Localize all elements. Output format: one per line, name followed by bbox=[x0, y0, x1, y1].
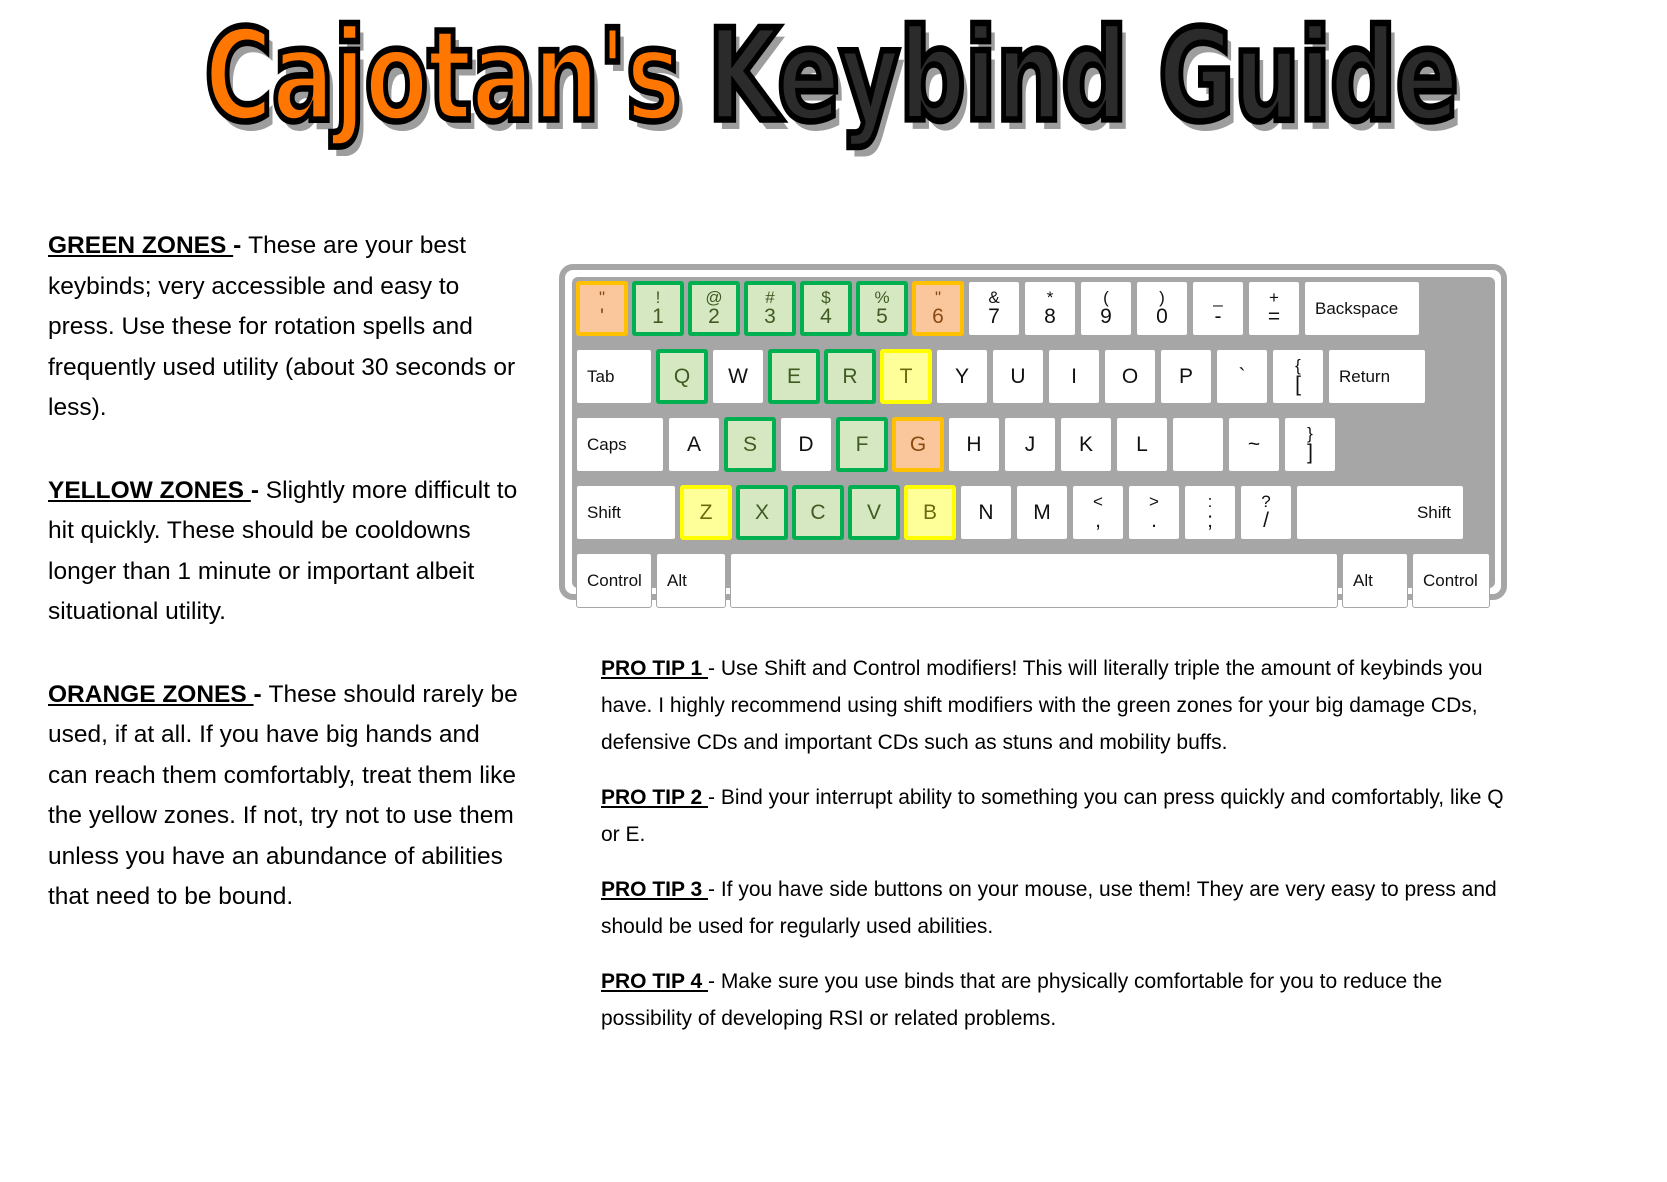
key-e[interactable]: E bbox=[768, 349, 820, 404]
pro-tip-1: PRO TIP 1 - Use Shift and Control modifi… bbox=[601, 650, 1516, 761]
key-legend-top: " bbox=[599, 289, 605, 306]
zone-heading-orange: ORANGE ZONES bbox=[48, 681, 254, 708]
key-legend-bottom: 6 bbox=[932, 306, 944, 328]
key-legend: X bbox=[755, 502, 769, 524]
key-legend: V bbox=[867, 502, 881, 524]
key-p[interactable]: P bbox=[1160, 349, 1212, 404]
zone-body-green: These are your best keybinds; very acces… bbox=[48, 232, 515, 421]
key-legend: P bbox=[1179, 366, 1193, 388]
key-[interactable]: _- bbox=[1192, 281, 1244, 336]
keyboard-diagram: "'!1@2#3$4%5"6&7*8(9)0_-+=BackspaceTabQW… bbox=[559, 264, 1507, 600]
key-legend: B bbox=[923, 502, 937, 524]
key-control[interactable]: Control bbox=[576, 553, 652, 608]
key-y[interactable]: Y bbox=[936, 349, 988, 404]
key-k[interactable]: K bbox=[1060, 417, 1112, 472]
key-7[interactable]: &7 bbox=[968, 281, 1020, 336]
key-legend-bottom: 2 bbox=[708, 306, 720, 328]
key-legend-bottom: 9 bbox=[1100, 306, 1112, 328]
zone-dash-orange: - bbox=[254, 681, 269, 708]
key-[interactable]: >. bbox=[1128, 485, 1180, 540]
key-8[interactable]: *8 bbox=[1024, 281, 1076, 336]
pro-tip-dash-1: - bbox=[708, 657, 721, 680]
key-q[interactable]: Q bbox=[656, 349, 708, 404]
key-legend-bottom: 3 bbox=[764, 306, 776, 328]
pro-tip-dash-3: - bbox=[708, 878, 721, 901]
key-blank[interactable] bbox=[730, 553, 1338, 608]
key-legend-bottom: , bbox=[1095, 510, 1101, 532]
key-legend: Q bbox=[674, 366, 690, 388]
key-[interactable]: }] bbox=[1284, 417, 1336, 472]
key-blank[interactable] bbox=[1172, 417, 1224, 472]
key-h[interactable]: H bbox=[948, 417, 1000, 472]
key-legend-top: > bbox=[1149, 493, 1159, 510]
pro-tip-body-4: Make sure you use binds that are physica… bbox=[601, 970, 1442, 1030]
pro-tip-dash-4: - bbox=[708, 970, 721, 993]
key-legend: N bbox=[978, 502, 993, 524]
keyboard-row: CapsASDFGHJKL~}] bbox=[572, 413, 1495, 477]
pro-tip-3: PRO TIP 3 - If you have side buttons on … bbox=[601, 871, 1516, 945]
pro-tip-body-cont-1: I highly recommend using shift modifiers… bbox=[601, 694, 1478, 754]
key-legend-bottom: 7 bbox=[988, 306, 1000, 328]
keyboard-row: ControlAltAltControl bbox=[572, 549, 1495, 613]
key-o[interactable]: O bbox=[1104, 349, 1156, 404]
key-legend-top: { bbox=[1295, 357, 1301, 374]
zone-heading-yellow: YELLOW ZONES bbox=[48, 477, 251, 504]
key-legend-top: " bbox=[935, 289, 941, 306]
key-legend-top: % bbox=[874, 289, 889, 306]
key-alt[interactable]: Alt bbox=[656, 553, 726, 608]
pro-tips-column: PRO TIP 1 - Use Shift and Control modifi… bbox=[601, 650, 1516, 1055]
key-legend-top: : bbox=[1208, 493, 1213, 510]
key-b[interactable]: B bbox=[904, 485, 956, 540]
key-legend-top: + bbox=[1269, 289, 1279, 306]
pro-tip-heading-4: PRO TIP 4 bbox=[601, 970, 708, 993]
key-backspace[interactable]: Backspace bbox=[1304, 281, 1420, 336]
zone-body-orange: These should rarely be used, if at all. … bbox=[48, 681, 518, 911]
key-[interactable]: :; bbox=[1184, 485, 1236, 540]
pro-tip-body-2: Bind your interrupt ability to something… bbox=[601, 786, 1504, 846]
key-legend-bottom: 0 bbox=[1156, 306, 1168, 328]
key-legend: Alt bbox=[1353, 570, 1373, 592]
key-m[interactable]: M bbox=[1016, 485, 1068, 540]
key-6[interactable]: "6 bbox=[912, 281, 964, 336]
key-legend: H bbox=[966, 434, 981, 456]
key-legend: K bbox=[1079, 434, 1093, 456]
key-legend: Return bbox=[1339, 366, 1390, 388]
pro-tip-4: PRO TIP 4 - Make sure you use binds that… bbox=[601, 963, 1516, 1037]
zone-legend-column: GREEN ZONES - These are your best keybin… bbox=[48, 226, 526, 960]
key-[interactable]: "' bbox=[576, 281, 628, 336]
key-a[interactable]: A bbox=[668, 417, 720, 472]
zone-heading-green: GREEN ZONES bbox=[48, 232, 233, 259]
key-legend: F bbox=[856, 434, 869, 456]
key-4[interactable]: $4 bbox=[800, 281, 852, 336]
key-legend-top: @ bbox=[705, 289, 722, 306]
key-legend-bottom: 1 bbox=[652, 306, 664, 328]
key-legend-bottom: [ bbox=[1295, 374, 1301, 396]
key-c[interactable]: C bbox=[792, 485, 844, 540]
key-legend-bottom: 5 bbox=[876, 306, 888, 328]
key-j[interactable]: J bbox=[1004, 417, 1056, 472]
key-0[interactable]: )0 bbox=[1136, 281, 1188, 336]
pro-tip-heading-3: PRO TIP 3 bbox=[601, 878, 708, 901]
key-legend: I bbox=[1071, 366, 1077, 388]
key-legend: T bbox=[900, 366, 913, 388]
pro-tip-dash-2: - bbox=[708, 786, 721, 809]
key-legend-bottom: ] bbox=[1307, 442, 1313, 464]
key-legend: S bbox=[743, 434, 757, 456]
key-legend: Caps bbox=[587, 434, 627, 456]
key-t[interactable]: T bbox=[880, 349, 932, 404]
key-u[interactable]: U bbox=[992, 349, 1044, 404]
key-l[interactable]: L bbox=[1116, 417, 1168, 472]
key-control[interactable]: Control bbox=[1412, 553, 1490, 608]
key-legend-bottom: / bbox=[1263, 510, 1269, 532]
title-part-cajotans: Cajotan's bbox=[203, 2, 683, 150]
keyboard-inner: "'!1@2#3$4%5"6&7*8(9)0_-+=BackspaceTabQW… bbox=[572, 277, 1495, 588]
key-alt[interactable]: Alt bbox=[1342, 553, 1408, 608]
key-legend-bottom: - bbox=[1215, 306, 1222, 328]
key-legend: Z bbox=[700, 502, 713, 524]
key-legend-bottom: 8 bbox=[1044, 306, 1056, 328]
key-shift[interactable]: Shift bbox=[1296, 485, 1464, 540]
key-3[interactable]: #3 bbox=[744, 281, 796, 336]
key-legend-top: # bbox=[765, 289, 774, 306]
key-legend: U bbox=[1010, 366, 1025, 388]
pro-tip-body-3: If you have side buttons on your mouse, … bbox=[601, 878, 1497, 938]
key-n[interactable]: N bbox=[960, 485, 1012, 540]
keyboard-row: "'!1@2#3$4%5"6&7*8(9)0_-+=Backspace bbox=[572, 277, 1495, 341]
key-legend: Tab bbox=[587, 366, 614, 388]
zone-dash-green: - bbox=[233, 232, 248, 259]
key-[interactable]: ~ bbox=[1228, 417, 1280, 472]
key-legend-top: ! bbox=[656, 289, 661, 306]
key-legend: D bbox=[798, 434, 813, 456]
key-legend: J bbox=[1025, 434, 1036, 456]
key-legend: ~ bbox=[1248, 434, 1260, 456]
key-[interactable]: += bbox=[1248, 281, 1300, 336]
key-legend-top: & bbox=[988, 289, 999, 306]
key-legend-top: < bbox=[1093, 493, 1103, 510]
key-legend-top: $ bbox=[821, 289, 830, 306]
key-1[interactable]: !1 bbox=[632, 281, 684, 336]
key-legend: Shift bbox=[587, 502, 621, 524]
zone-paragraph-green: GREEN ZONES - These are your best keybin… bbox=[48, 226, 526, 429]
key-legend-bottom: ' bbox=[600, 306, 604, 328]
key-legend-top: } bbox=[1307, 425, 1313, 442]
key-legend-top: * bbox=[1047, 289, 1054, 306]
key-return[interactable]: Return bbox=[1328, 349, 1426, 404]
key-legend-top: ( bbox=[1103, 289, 1109, 306]
pro-tip-heading-1: PRO TIP 1 bbox=[601, 657, 708, 680]
key-2[interactable]: @2 bbox=[688, 281, 740, 336]
key-[interactable]: ?/ bbox=[1240, 485, 1292, 540]
key-legend-top: ? bbox=[1261, 493, 1270, 510]
pro-tip-heading-2: PRO TIP 2 bbox=[601, 786, 708, 809]
key-legend: Backspace bbox=[1315, 298, 1398, 320]
key-legend-bottom: ; bbox=[1207, 510, 1213, 532]
key-legend: L bbox=[1136, 434, 1148, 456]
key-legend: M bbox=[1033, 502, 1051, 524]
key-9[interactable]: (9 bbox=[1080, 281, 1132, 336]
key-legend: W bbox=[728, 366, 748, 388]
keyboard-row: ShiftZXCVBNM<,>.:;?/Shift bbox=[572, 481, 1495, 545]
key-legend: O bbox=[1122, 366, 1138, 388]
key-v[interactable]: V bbox=[848, 485, 900, 540]
key-tab[interactable]: Tab bbox=[576, 349, 652, 404]
key-[interactable]: <, bbox=[1072, 485, 1124, 540]
zone-dash-yellow: - bbox=[251, 477, 266, 504]
key-legend: ` bbox=[1239, 366, 1246, 388]
key-legend: Control bbox=[587, 570, 642, 592]
key-legend: R bbox=[842, 366, 857, 388]
key-legend: E bbox=[787, 366, 801, 388]
key-i[interactable]: I bbox=[1048, 349, 1100, 404]
key-d[interactable]: D bbox=[780, 417, 832, 472]
key-legend: Y bbox=[955, 366, 969, 388]
key-legend-top: _ bbox=[1213, 289, 1222, 306]
pro-tip-2: PRO TIP 2 - Bind your interrupt ability … bbox=[601, 779, 1516, 853]
key-legend: Control bbox=[1423, 570, 1478, 592]
key-g[interactable]: G bbox=[892, 417, 944, 472]
key-legend: G bbox=[910, 434, 926, 456]
key-r[interactable]: R bbox=[824, 349, 876, 404]
key-[interactable]: {[ bbox=[1272, 349, 1324, 404]
key-caps[interactable]: Caps bbox=[576, 417, 664, 472]
key-legend: C bbox=[810, 502, 825, 524]
keyboard-row: TabQWERTYUIOP`{[Return bbox=[572, 345, 1495, 409]
key-legend: Shift bbox=[1417, 502, 1451, 524]
zone-paragraph-yellow: YELLOW ZONES - Slightly more difficult t… bbox=[48, 471, 526, 633]
key-f[interactable]: F bbox=[836, 417, 888, 472]
key-legend-bottom: . bbox=[1151, 510, 1157, 532]
key-z[interactable]: Z bbox=[680, 485, 732, 540]
key-shift[interactable]: Shift bbox=[576, 485, 676, 540]
zone-paragraph-orange: ORANGE ZONES - These should rarely be us… bbox=[48, 675, 526, 918]
key-5[interactable]: %5 bbox=[856, 281, 908, 336]
title-part-keybind-guide: Keybind Guide bbox=[706, 2, 1460, 150]
key-legend-bottom: 4 bbox=[820, 306, 832, 328]
key-legend-top: ) bbox=[1159, 289, 1165, 306]
key-[interactable]: ` bbox=[1216, 349, 1268, 404]
key-x[interactable]: X bbox=[736, 485, 788, 540]
page-title: Cajotan's Keybind Guide bbox=[0, 38, 1667, 168]
key-legend: Alt bbox=[667, 570, 687, 592]
key-legend: A bbox=[687, 434, 701, 456]
key-w[interactable]: W bbox=[712, 349, 764, 404]
key-s[interactable]: S bbox=[724, 417, 776, 472]
key-legend-bottom: = bbox=[1268, 306, 1280, 328]
